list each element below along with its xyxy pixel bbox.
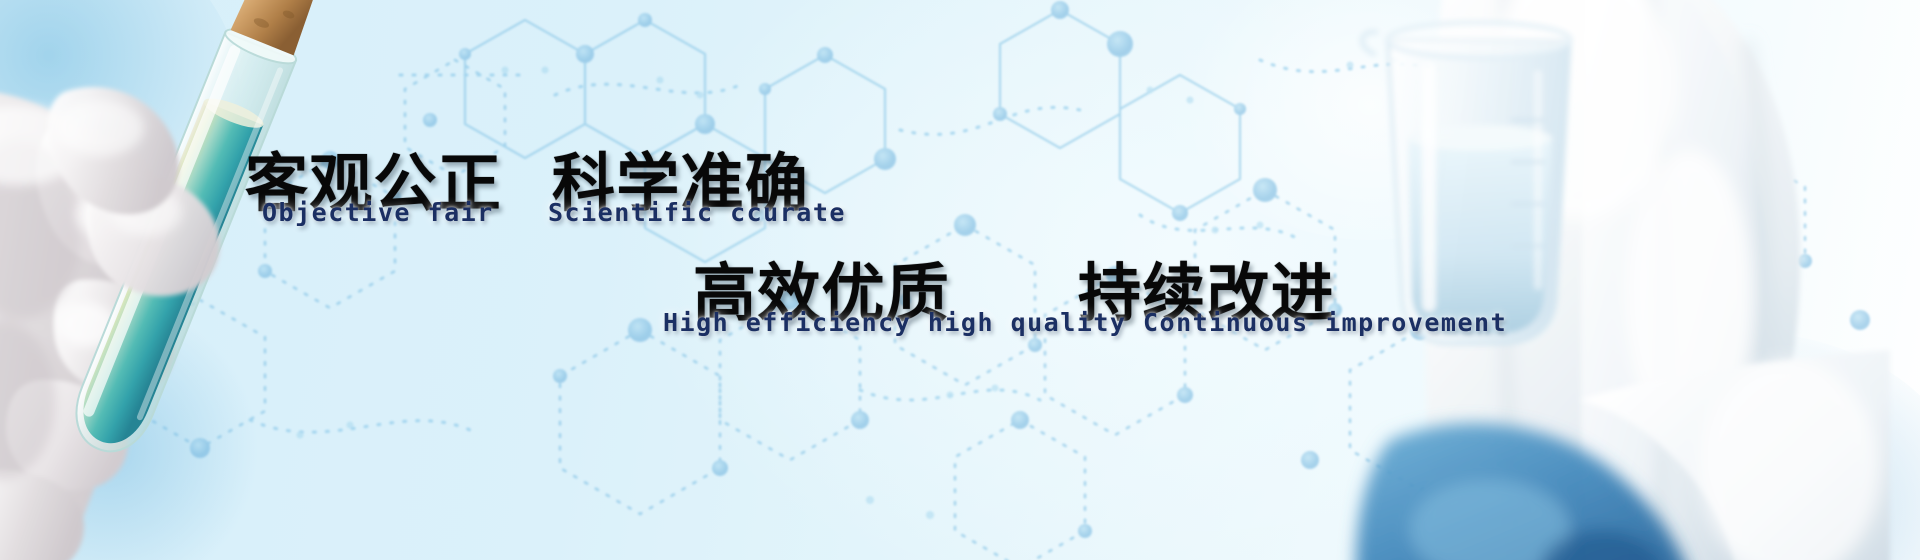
bottom-english-subtitle: High efficiency high quality Continuous … [663, 308, 1507, 337]
slogan-1-english: Objective fair [262, 198, 494, 227]
slogan-2-english: Scientific ccurate [548, 198, 846, 227]
lab-coat-with-beaker-image [1330, 0, 1920, 560]
gloved-hand-with-test-tube-image [0, 0, 390, 560]
laboratory-slogan-banner: 客观公正 Objective fair 科学准确 Scientific ccur… [0, 0, 1920, 560]
